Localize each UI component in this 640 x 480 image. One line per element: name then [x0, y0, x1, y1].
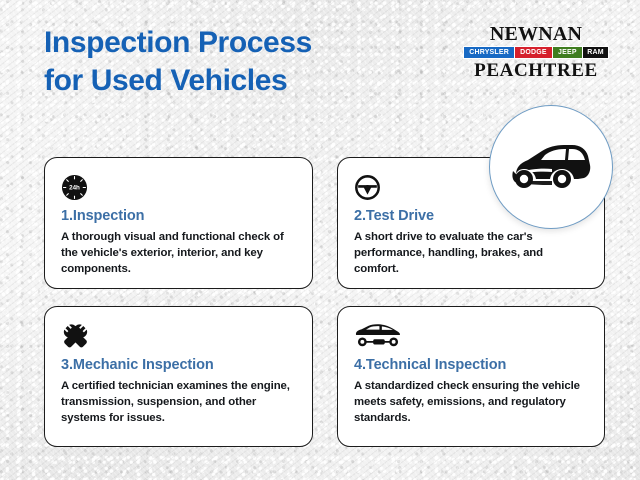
card-heading: 4.Technical Inspection [354, 357, 588, 373]
dealer-logo: NEWNAN CHRYSLER DODGE JEEP RAM PEACHTREE [460, 24, 612, 80]
page-title-line-1: Inspection Process [44, 24, 424, 62]
brand-dodge: DODGE [515, 47, 552, 58]
infographic-page: Inspection Process for Used Vehicles NEW… [0, 0, 640, 480]
card-body: A certified technician examines the engi… [61, 378, 296, 427]
clock-24h-icon: 24h [61, 172, 296, 202]
step-card-mechanic-inspection: 3.Mechanic Inspection A certified techni… [44, 306, 313, 447]
card-heading: 3.Mechanic Inspection [61, 357, 296, 373]
card-body: A standardized check ensuring the vehicl… [354, 378, 588, 427]
brand-strip: CHRYSLER DODGE JEEP RAM [463, 46, 609, 59]
car-chassis-icon [354, 321, 588, 351]
brand-ram: RAM [583, 47, 608, 58]
hero-vehicle-circle [489, 105, 613, 229]
suv-vehicle-icon [508, 138, 594, 196]
brand-chrysler: CHRYSLER [464, 47, 515, 58]
step-card-technical-inspection: 4.Technical Inspection A standardized ch… [337, 306, 605, 447]
logo-bottom-word: PEACHTREE [460, 61, 612, 80]
brand-jeep: JEEP [553, 47, 583, 58]
step-card-inspection: 24h 1.Inspection A thorough visual and f… [44, 157, 313, 289]
logo-top-word: NEWNAN [460, 24, 612, 44]
page-title: Inspection Process for Used Vehicles [44, 24, 424, 100]
card-body: A thorough visual and functional check o… [61, 229, 296, 278]
page-title-line-2: for Used Vehicles [44, 62, 424, 100]
crossed-wrenches-icon [61, 321, 296, 351]
card-body: A short drive to evaluate the car's perf… [354, 229, 588, 278]
card-heading: 1.Inspection [61, 208, 296, 224]
svg-text:24h: 24h [69, 184, 80, 191]
